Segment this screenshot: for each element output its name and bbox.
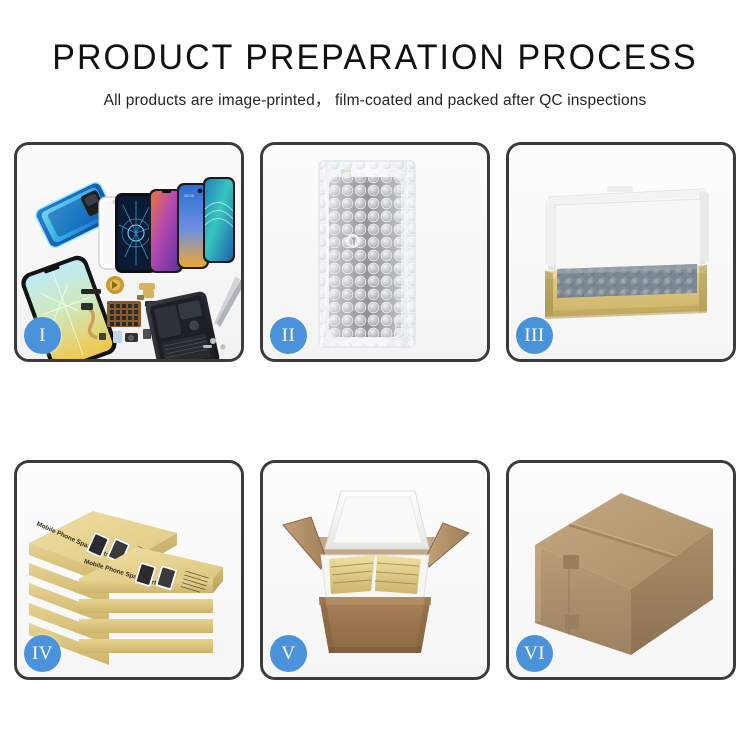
page-title: PRODUCT PREPARATION PROCESS bbox=[11, 40, 739, 77]
step-badge-5: V bbox=[270, 635, 307, 672]
step-badge-4: IV bbox=[24, 635, 61, 672]
page-header: PRODUCT PREPARATION PROCESS All products… bbox=[0, 0, 750, 110]
page-subtitle: All products are image-printed， film-coa… bbox=[0, 88, 750, 110]
step-panel-2[interactable]: II bbox=[260, 142, 490, 362]
step-badge-2: II bbox=[270, 317, 307, 354]
step-panel-6[interactable]: VI bbox=[506, 460, 736, 680]
step-badge-3: III bbox=[516, 317, 553, 354]
step-badge-6: VI bbox=[516, 635, 553, 672]
step-panel-3[interactable]: III bbox=[506, 142, 736, 362]
step-panel-5[interactable]: V bbox=[260, 460, 490, 680]
svg-text:08:08: 08:08 bbox=[184, 193, 195, 198]
step-panel-4[interactable]: Mobile Phone Spare Parts bbox=[14, 460, 244, 680]
step-panel-1[interactable]: 08:08 bbox=[14, 142, 244, 362]
process-step-grid: 08:08 bbox=[14, 142, 737, 680]
step-badge-1: I bbox=[24, 317, 61, 354]
